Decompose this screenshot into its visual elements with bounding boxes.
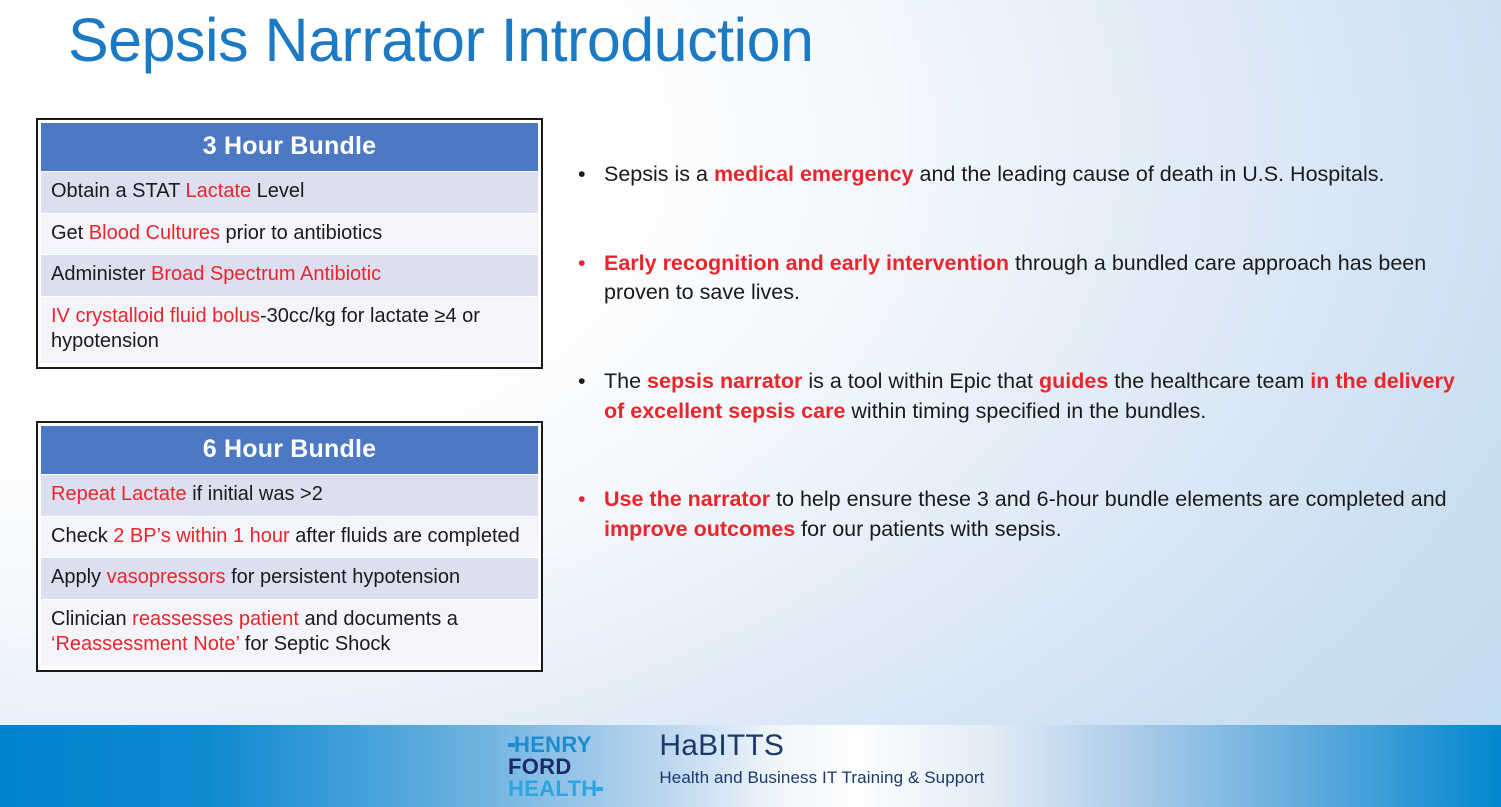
bundle-row: Repeat Lactate if initial was >2 [41,474,538,516]
bullet-item: •Early recognition and early interventio… [572,249,1472,308]
body-text: after fluids are completed [290,525,520,547]
bundle-row: Apply vasopressors for persistent hypote… [41,557,538,599]
bullet-text: Sepsis is a medical emergency and the le… [604,162,1384,186]
footer-content: HENRY FORD HEALTH HaBITTS Health and Bus… [508,730,984,799]
bundle-row: Get Blood Cultures prior to antibiotics [41,213,538,255]
bundle-row: Clinician reassesses patient and documen… [41,599,538,666]
emphasis-text: reassesses patient [132,608,299,630]
body-text: Sepsis is a [604,162,714,186]
bundle-table-header: 6 Hour Bundle [41,426,538,474]
habitts-branding: HaBITTS Health and Business IT Training … [659,730,984,788]
body-text: for Septic Shock [239,633,390,655]
slide-canvas: Sepsis Narrator Introduction 3 Hour Bund… [0,0,1501,807]
body-text: and documents a [299,608,458,630]
body-text: Administer [51,263,151,285]
bundle-table-body: Repeat Lactate if initial was >2Check 2 … [41,474,538,666]
logo-line-henry: HENRY [508,734,603,756]
body-text: and the leading cause of death in U.S. H… [914,162,1385,186]
body-text: Obtain a STAT [51,180,186,202]
bundle-table-6-hour: 6 Hour Bundle Repeat Lactate if initial … [36,421,543,672]
bullet-marker-icon: • [578,249,586,279]
body-text: prior to antibiotics [220,222,382,244]
emphasis-text: IV crystalloid fluid bolus [51,305,260,327]
bullet-text: The sepsis narrator is a tool within Epi… [604,369,1455,423]
emphasis-text: ‘Reassessment Note’ [51,633,239,655]
henry-ford-health-logo: HENRY FORD HEALTH [508,734,603,799]
logo-line-ford: FORD [508,756,603,778]
emphasis-text: Broad Spectrum Antibiotic [151,263,381,285]
bullet-item: •The sepsis narrator is a tool within Ep… [572,367,1472,426]
body-text: Level [251,180,304,202]
body-text: The [604,369,647,393]
body-text: for our patients with sepsis. [795,517,1061,541]
bundle-table-header: 3 Hour Bundle [41,123,538,171]
bundle-table-3-hour: 3 Hour Bundle Obtain a STAT Lactate Leve… [36,118,543,369]
bullet-item: •Sepsis is a medical emergency and the l… [572,160,1472,190]
emphasis-text: 2 BP’s within 1 hour [113,525,289,547]
bundle-row: IV crystalloid fluid bolus-30cc/kg for l… [41,296,538,363]
habitts-subtitle: Health and Business IT Training & Suppor… [659,768,984,788]
emphasis-text: Repeat Lactate [51,483,187,505]
bullet-marker-icon: • [578,367,586,397]
body-text: for persistent hypotension [226,566,461,588]
emphasis-text: vasopressors [107,566,226,588]
bullet-text: Early recognition and early intervention… [604,251,1426,305]
bullet-text: Use the narrator to help ensure these 3 … [604,487,1447,541]
bullet-marker-icon: • [578,485,586,515]
emphasis-text: medical emergency [714,162,914,186]
bundle-table-body: Obtain a STAT Lactate LevelGet Blood Cul… [41,171,538,363]
bundle-row: Administer Broad Spectrum Antibiotic [41,254,538,296]
emphasis-text: guides [1039,369,1108,393]
emphasis-text: Use the narrator [604,487,770,511]
logo-bar-icon [596,787,603,791]
emphasis-text: Lactate [186,180,252,202]
body-text: Clinician [51,608,132,630]
page-title: Sepsis Narrator Introduction [68,2,813,78]
emphasis-text: improve outcomes [604,517,795,541]
body-text: the healthcare team [1108,369,1310,393]
emphasis-text: Blood Cultures [89,222,220,244]
body-text: is a tool within Epic that [802,369,1039,393]
bullet-list: •Sepsis is a medical emergency and the l… [572,160,1472,545]
body-text: Get [51,222,89,244]
bullet-item: •Use the narrator to help ensure these 3… [572,485,1472,544]
emphasis-text: Early recognition and early intervention [604,251,1009,275]
body-text: Check [51,525,113,547]
bundle-row: Obtain a STAT Lactate Level [41,171,538,213]
body-text: Apply [51,566,107,588]
habitts-title: HaBITTS [659,730,984,762]
body-text: within timing specified in the bundles. [845,399,1206,423]
bullet-marker-icon: • [578,160,586,190]
body-text: to help ensure these 3 and 6-hour bundle… [770,487,1447,511]
body-text: if initial was >2 [187,483,323,505]
bundle-row: Check 2 BP’s within 1 hour after fluids … [41,516,538,558]
logo-line-health: HEALTH [508,778,603,800]
emphasis-text: sepsis narrator [647,369,802,393]
